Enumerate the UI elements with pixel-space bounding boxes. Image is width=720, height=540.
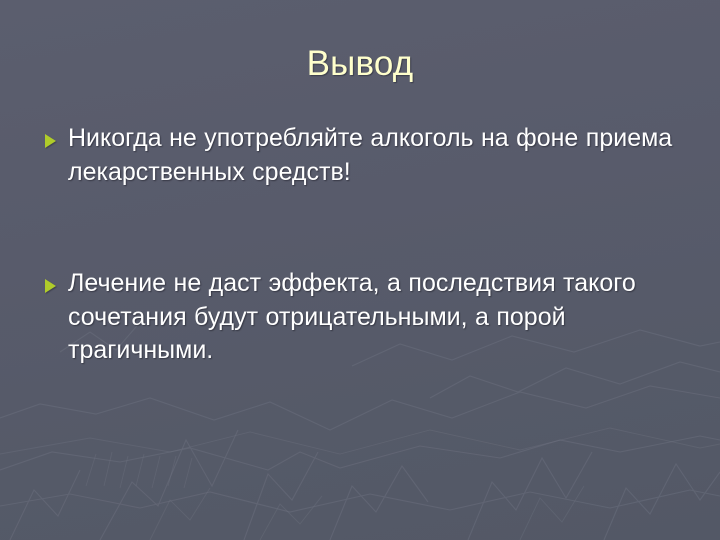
slide-body: Никогда не употребляйте алкоголь на фоне… [0,122,720,368]
bullet-text: Никогда не употребляйте алкоголь на фоне… [68,122,686,189]
page-title: Вывод [307,46,414,83]
slide-content: Вывод Никогда не употребляйте алкоголь н… [0,0,720,540]
triangle-bullet-icon [45,134,56,148]
triangle-bullet-icon [45,279,56,293]
list-item: Лечение не даст эффекта, а последствия т… [0,267,720,368]
presentation-slide: Вывод Никогда не употребляйте алкоголь н… [0,0,720,540]
bullet-text: Лечение не даст эффекта, а последствия т… [68,267,686,368]
slide-title-block: Вывод [0,46,720,83]
list-item: Никогда не употребляйте алкоголь на фоне… [0,122,720,189]
